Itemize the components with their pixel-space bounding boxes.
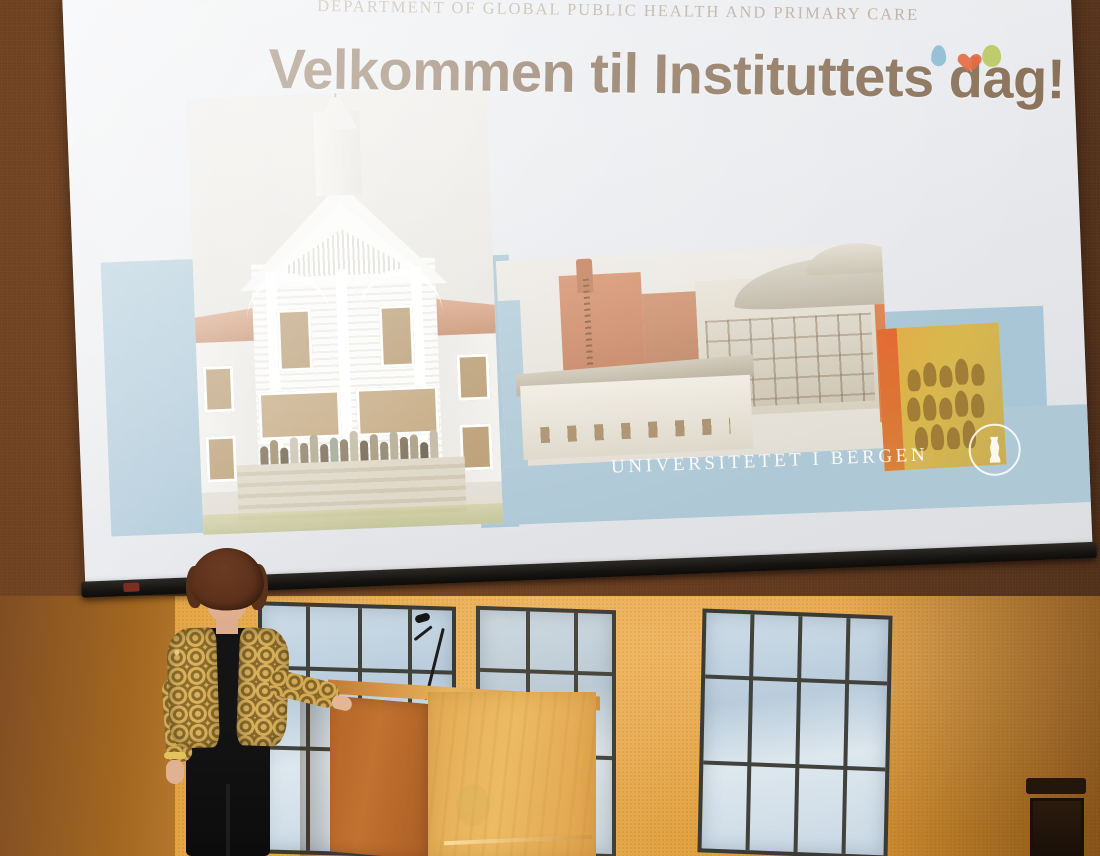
presenter-hair <box>190 548 264 610</box>
projection-screen: DEPARTMENT OF GLOBAL PUBLIC HEALTH AND P… <box>62 0 1095 604</box>
department-header: DEPARTMENT OF GLOBAL PUBLIC HEALTH AND P… <box>317 0 877 24</box>
leaf-icon <box>982 45 1001 67</box>
presentation-slide: DEPARTMENT OF GLOBAL PUBLIC HEALTH AND P… <box>62 0 1092 584</box>
photo-white-wooden-building <box>186 87 503 534</box>
screen-surface: DEPARTMENT OF GLOBAL PUBLIC HEALTH AND P… <box>62 0 1092 584</box>
lower-wall-left-shade <box>0 596 175 856</box>
podium-front-panel <box>428 692 596 856</box>
podium-emblem-icon <box>456 784 490 826</box>
bracelet <box>164 752 186 759</box>
presenter <box>150 548 360 856</box>
photo-modern-brick-building <box>496 242 892 467</box>
sequined-jacket-left <box>166 627 220 749</box>
lecture-hall-scene: DEPARTMENT OF GLOBAL PUBLIC HEALTH AND P… <box>0 0 1100 856</box>
water-drop-icon <box>931 45 946 66</box>
heart-icon <box>953 46 975 66</box>
dark-chair <box>1018 772 1092 856</box>
department-logo-marks <box>931 44 1001 67</box>
window-right <box>697 608 892 856</box>
